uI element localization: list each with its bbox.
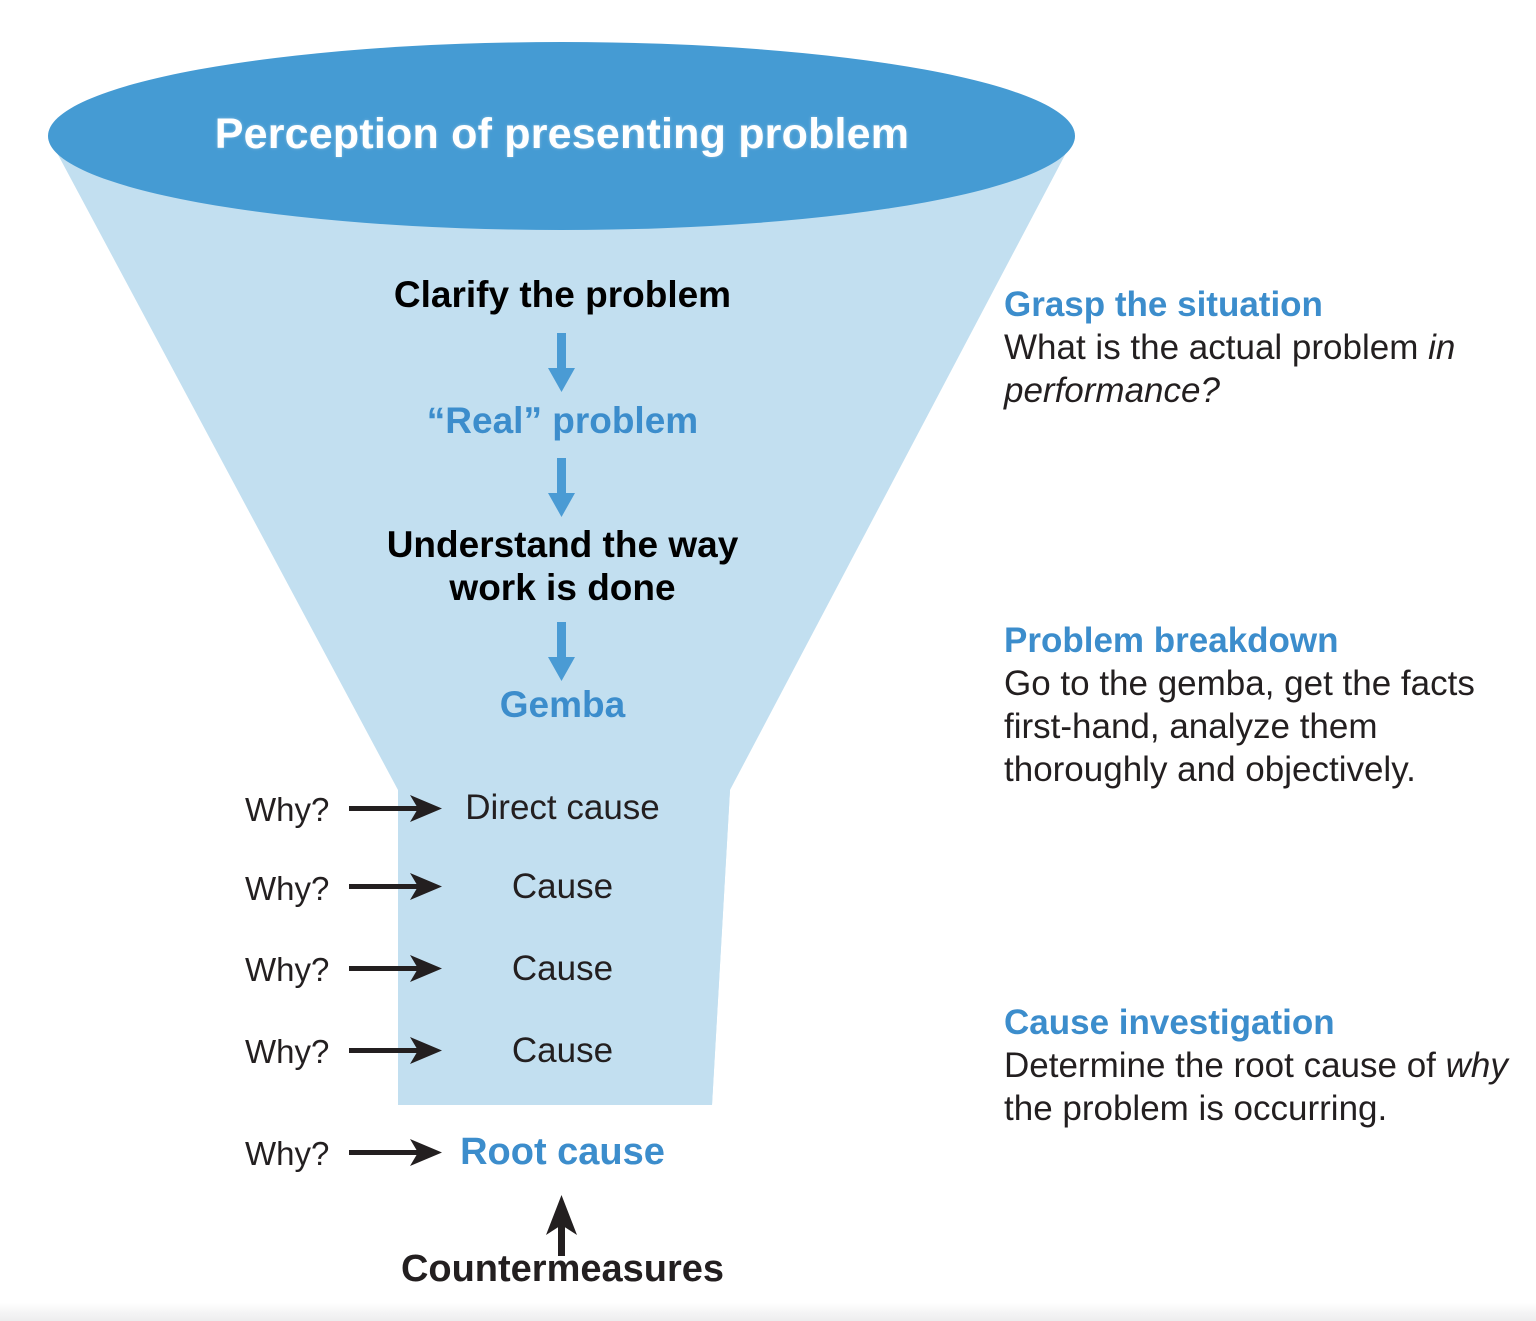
step-gemba: Gemba bbox=[300, 684, 825, 726]
funnel-title: Perception of presenting problem bbox=[48, 110, 1076, 159]
note-cause-investigation: Cause investigation Determine the root c… bbox=[1004, 1002, 1514, 1131]
step-understand-the-way-work-is-done: Understand the way work is done bbox=[300, 524, 825, 609]
note-body-0-plain-1: What is the actual problem bbox=[1004, 328, 1418, 367]
note-body-1: Go to the gemba, get the facts first-han… bbox=[1004, 663, 1514, 791]
bottom-edge-band bbox=[0, 1303, 1536, 1321]
note-body-2-plain-1: Determine the root cause of bbox=[1004, 1046, 1436, 1085]
cause-label-direct-cause: Direct cause bbox=[330, 788, 795, 828]
note-body-2-italic: why bbox=[1446, 1046, 1508, 1085]
note-grasp-the-situation: Grasp the situation What is the actual p… bbox=[1004, 284, 1514, 413]
step-clarify-the-problem: Clarify the problem bbox=[300, 274, 825, 316]
note-heading-0: Grasp the situation bbox=[1004, 284, 1514, 325]
diagram-canvas: Perception of presenting problem Clarify… bbox=[0, 0, 1536, 1321]
cause-label-2: Cause bbox=[330, 949, 795, 989]
cause-label-root-cause: Root cause bbox=[330, 1131, 795, 1174]
note-heading-1: Problem breakdown bbox=[1004, 620, 1514, 661]
cause-label-3: Cause bbox=[330, 1031, 795, 1071]
step-understand-line-2: work is done bbox=[300, 567, 825, 610]
note-body-0: What is the actual problem in performanc… bbox=[1004, 327, 1514, 412]
note-body-2: Determine the root cause of why the prob… bbox=[1004, 1045, 1514, 1130]
note-problem-breakdown: Problem breakdown Go to the gemba, get t… bbox=[1004, 620, 1514, 791]
note-heading-2: Cause investigation bbox=[1004, 1002, 1514, 1043]
step-understand-line-1: Understand the way bbox=[300, 524, 825, 567]
cause-label-1: Cause bbox=[330, 867, 795, 907]
countermeasures-arrow bbox=[546, 1195, 577, 1256]
countermeasures-label: Countermeasures bbox=[330, 1248, 795, 1291]
note-body-2-plain-2: the problem is occurring. bbox=[1004, 1089, 1387, 1128]
step-real-problem: “Real” problem bbox=[300, 400, 825, 442]
